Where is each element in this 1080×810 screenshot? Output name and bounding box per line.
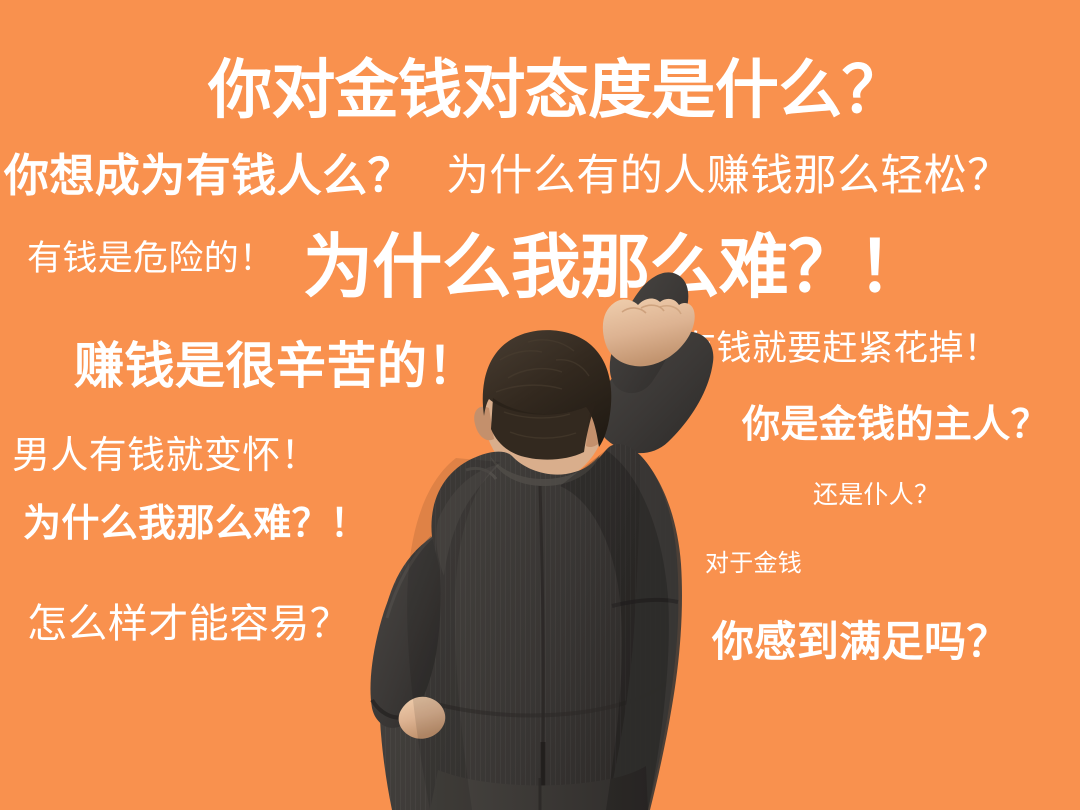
head	[483, 338, 607, 482]
question-do-you-feel-satisfied: 你感到满足吗？	[712, 621, 1009, 663]
headline-why-so-hard: 为什么我那么难？！	[303, 232, 927, 302]
left-ear	[474, 407, 494, 441]
suit-fabric-texture	[379, 444, 679, 810]
question-why-easy-money: 为什么有的人赚钱那么轻松？	[446, 155, 1011, 198]
jacket-pocket-flap	[612, 600, 678, 606]
jacket-collar	[490, 455, 600, 486]
body-shadow-right	[560, 450, 669, 810]
question-want-to-be-rich: 你想成为有钱人么？	[4, 153, 413, 198]
neck	[505, 444, 580, 509]
suit-jacket-body	[379, 444, 679, 810]
left-sleeve-cuff	[372, 700, 410, 718]
poster-title: 你对金钱对态度是什么？	[208, 58, 905, 122]
hand-finger-line-2	[641, 305, 664, 311]
right-ear	[586, 411, 608, 447]
trousers	[430, 766, 648, 810]
hand-finger-line-1	[622, 308, 646, 313]
question-why-so-hard-small: 为什么我那么难？！	[23, 505, 368, 543]
left-hand	[399, 697, 446, 739]
question-or-servant: 还是仆人？	[813, 483, 939, 508]
shoulder-highlight	[436, 464, 500, 576]
question-how-to-make-it-easy: 怎么样才能容易？	[27, 604, 350, 644]
poster-canvas: 你对金钱对态度是什么？ 你想成为有钱人么？ 为什么有的人赚钱那么轻松？ 有钱是危…	[0, 0, 1080, 810]
body-shadow-left	[407, 458, 500, 810]
hair-lower	[491, 398, 596, 460]
statement-earning-is-hard: 赚钱是很辛苦的！	[74, 341, 478, 391]
hair-texture	[496, 340, 589, 438]
jacket-right-side	[606, 455, 682, 810]
suit-left-sleeve	[370, 537, 440, 728]
hand-finger-line-3	[660, 306, 681, 314]
jacket-center-seam	[540, 486, 543, 810]
left-sleeve-highlight	[387, 537, 432, 618]
statement-spend-money-fast: 有钱就要赶紧花掉！	[681, 331, 999, 366]
question-master-of-money: 你是金钱的主人？	[742, 406, 1049, 444]
statement-rich-men-turn-bad: 男人有钱就变怀！	[12, 437, 319, 475]
collar-left-edge	[466, 468, 496, 479]
statement-money-is-dangerous: 有钱是危险的！	[27, 241, 274, 276]
jacket-waist-line	[392, 678, 672, 715]
hair	[483, 330, 612, 447]
label-about-money: 对于金钱	[705, 552, 802, 576]
